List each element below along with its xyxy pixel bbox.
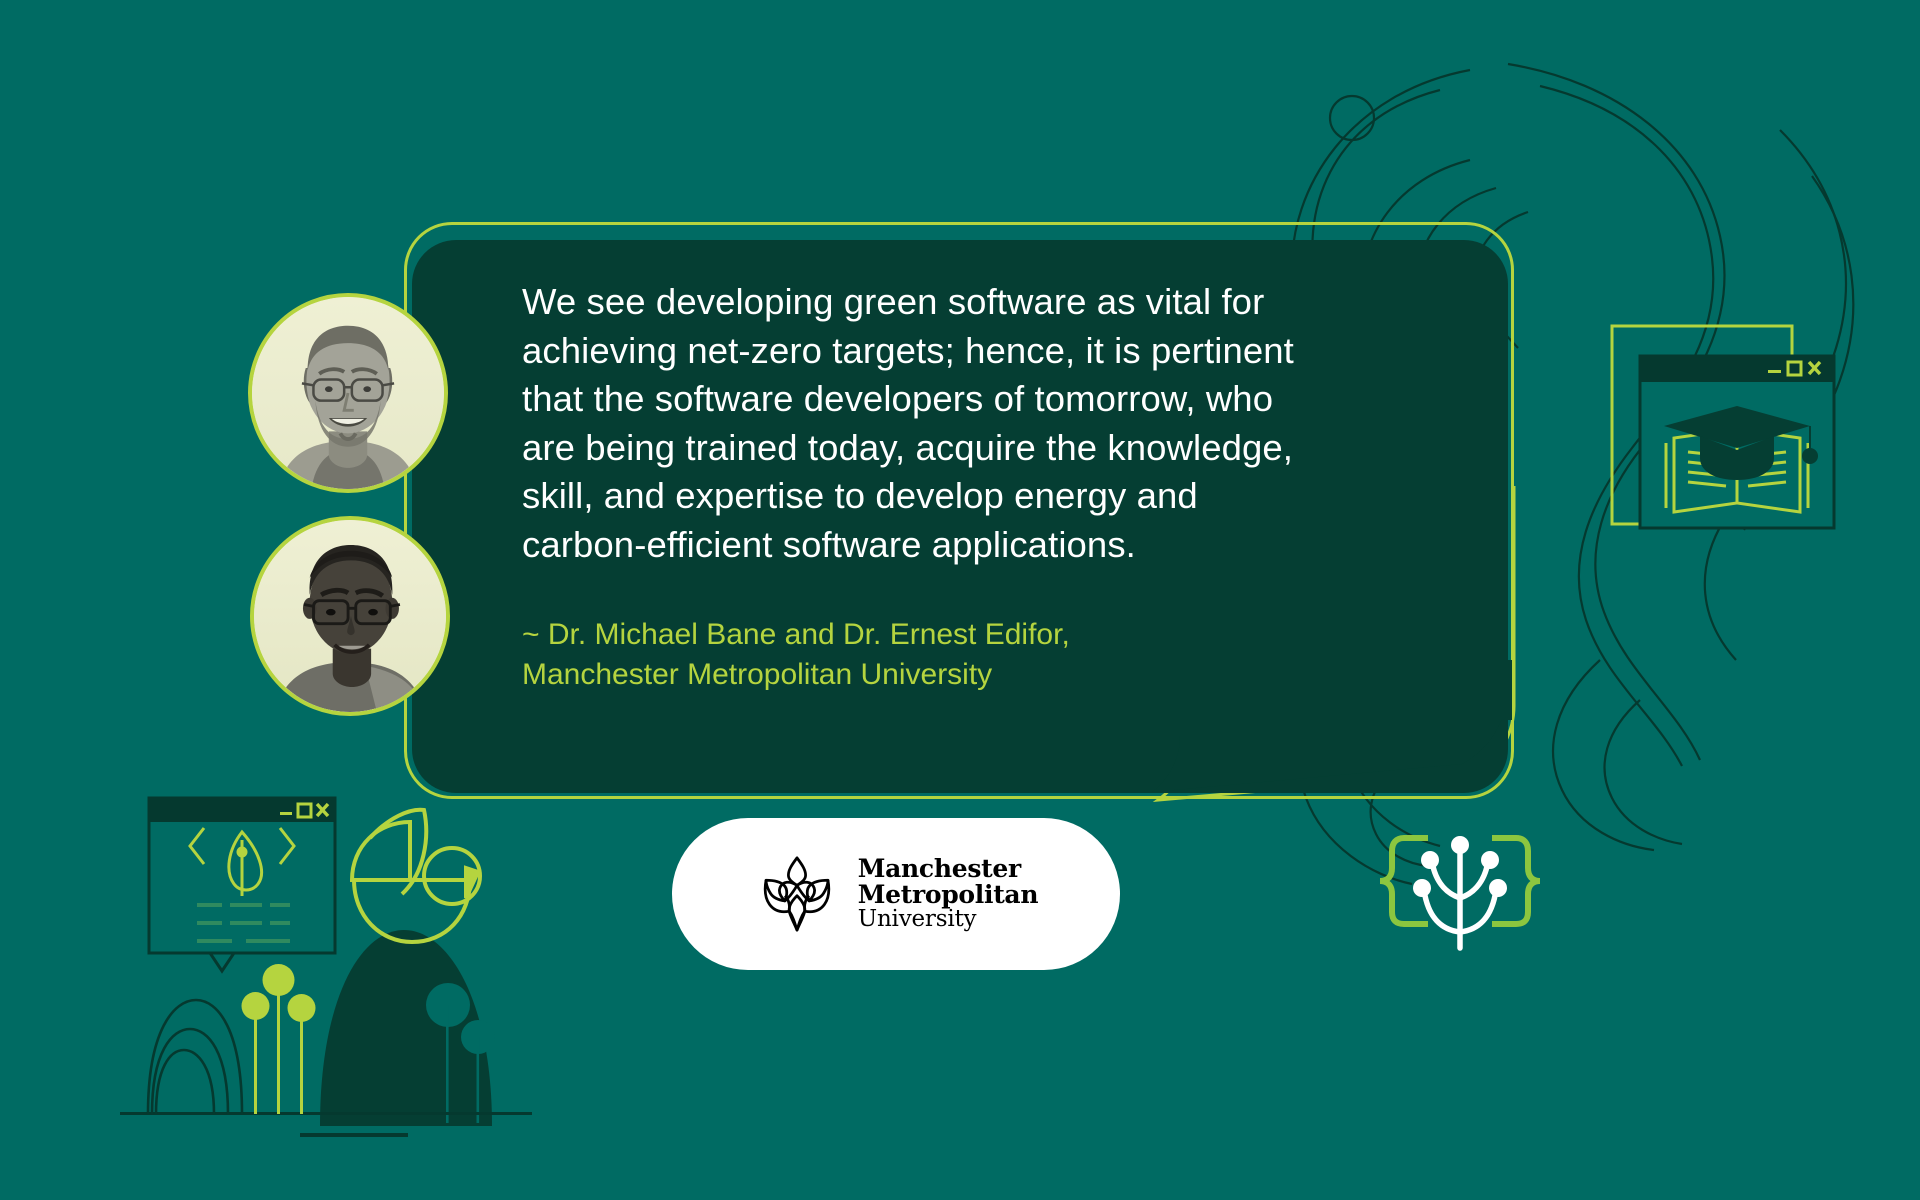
- maximize-icon: [298, 804, 311, 817]
- logo-line-3: University: [858, 908, 1038, 931]
- avatar-michael-bane: [248, 293, 448, 493]
- avatar-ernest-edifor: [250, 516, 450, 716]
- leaf-in-code-brackets-icon: [190, 828, 294, 896]
- quote-text: We see developing green software as vita…: [522, 278, 1402, 569]
- trefoil-flower-icon: [754, 851, 840, 937]
- minimize-icon: [1768, 370, 1781, 373]
- graduation-window-decoration: [1612, 326, 1834, 528]
- ground-line: [120, 1112, 532, 1115]
- minimize-icon: [280, 812, 292, 815]
- maximize-icon: [1788, 362, 1801, 375]
- logo-pill: Manchester Metropolitan University: [672, 818, 1120, 970]
- arc-grass: [148, 1000, 242, 1114]
- ground-line-short: [300, 1133, 408, 1137]
- dandelion-plants-illustration: [242, 964, 316, 1114]
- poster-canvas: We see developing green software as vita…: [0, 0, 1920, 1200]
- graduation-cap-icon: [1664, 406, 1818, 480]
- logo-line-1: Manchester: [858, 856, 1038, 882]
- small-circle-outline: [1330, 96, 1374, 140]
- code-window-decoration: [149, 798, 335, 971]
- tree-in-curly-braces-icon: [1380, 836, 1540, 948]
- book-icon: [1666, 429, 1808, 512]
- logo-line-2: Metropolitan: [858, 882, 1038, 908]
- logo-wordmark: Manchester Metropolitan University: [858, 856, 1038, 931]
- close-icon: [317, 804, 328, 816]
- hill-silhouette: [320, 930, 492, 1126]
- bird-icon: [352, 810, 480, 942]
- quote-block: We see developing green software as vita…: [522, 278, 1402, 695]
- close-icon: [1809, 362, 1820, 374]
- quote-attribution: ~ Dr. Michael Bane and Dr. Ernest Edifor…: [522, 615, 1402, 695]
